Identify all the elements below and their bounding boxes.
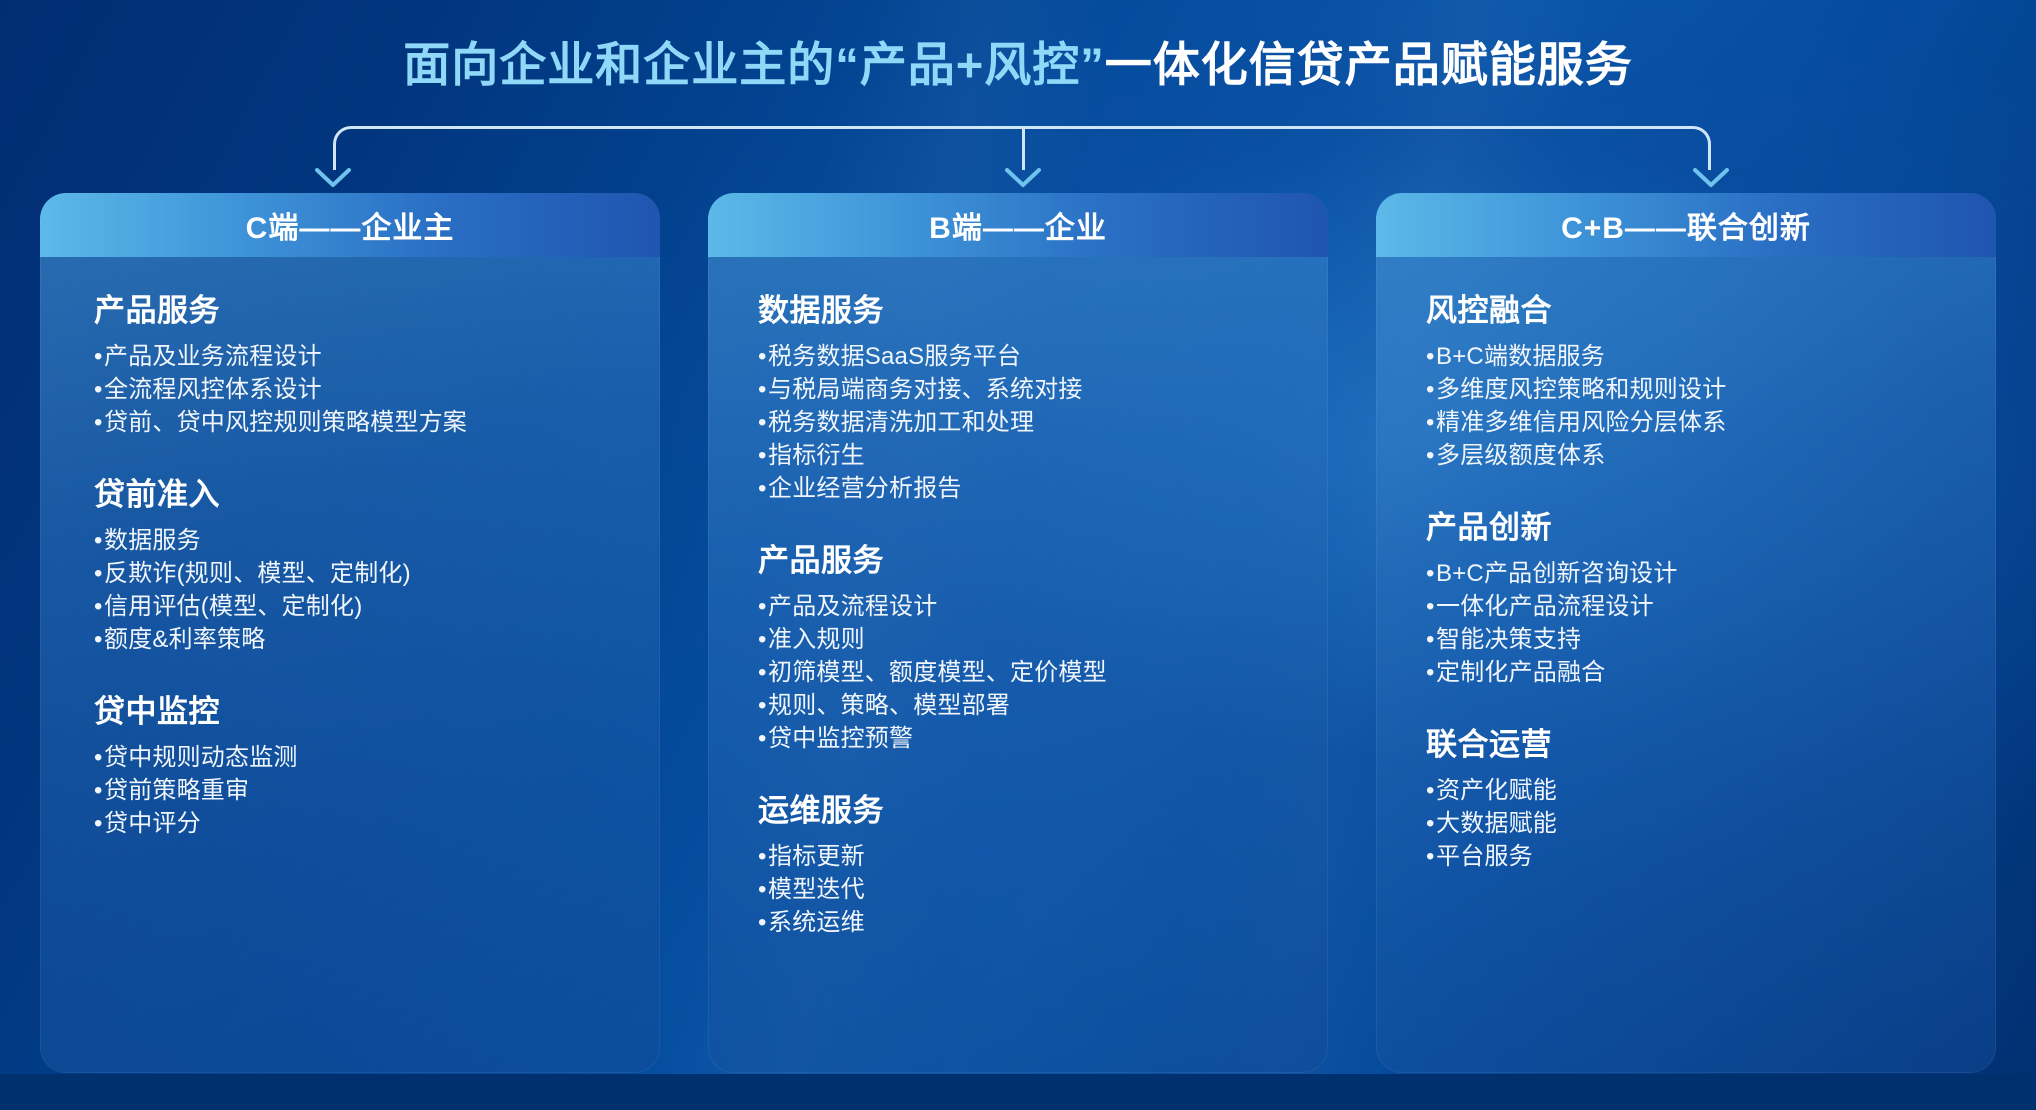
section-title: 产品创新 xyxy=(1426,502,1996,547)
bullet-dot-icon: • xyxy=(758,472,768,505)
list-item: •税务数据清洗加工和处理 xyxy=(758,406,1328,439)
bullet-dot-icon: • xyxy=(94,524,104,557)
list-item: •系统运维 xyxy=(758,906,1328,939)
bullet-dot-icon: • xyxy=(758,590,768,623)
list-item-label: 多维度风控策略和规则设计 xyxy=(1436,376,1726,403)
list-item: •信用评估(模型、定制化) xyxy=(94,590,660,623)
card-header-c-end: C端——企业主 xyxy=(40,193,660,257)
list-item: •初筛模型、额度模型、定价模型 xyxy=(758,656,1328,689)
bullet-dot-icon: • xyxy=(758,873,768,906)
card-b-end[interactable]: B端——企业 数据服务 •税务数据SaaS服务平台 •与税局端商务对接、系统对接… xyxy=(708,193,1328,1073)
list-item-label: 系统运维 xyxy=(768,909,865,936)
arrow-down-icon-middle xyxy=(1001,164,1045,190)
list-item: •智能决策支持 xyxy=(1426,623,1996,656)
list-item-label: 贷中评分 xyxy=(104,810,201,837)
bullet-dot-icon: • xyxy=(758,722,768,755)
list-item-label: 初筛模型、额度模型、定价模型 xyxy=(768,659,1107,686)
list-item: •指标衍生 xyxy=(758,439,1328,472)
section-title: 联合运营 xyxy=(1426,719,1996,764)
slide-canvas: 面向企业和企业主的“产品+风控”一体化信贷产品赋能服务 C端——企业主 产品服务… xyxy=(0,0,2036,1110)
list-item: •指标更新 xyxy=(758,840,1328,873)
card-header-b-end: B端——企业 xyxy=(708,193,1328,257)
list-item-label: 与税局端商务对接、系统对接 xyxy=(768,376,1083,403)
list-item-label: 规则、策略、模型部署 xyxy=(768,692,1010,719)
list-item-label: 税务数据SaaS服务平台 xyxy=(768,343,1021,370)
list-item-label: 指标更新 xyxy=(768,843,865,870)
bullet-dot-icon: • xyxy=(94,557,104,590)
list-item: •B+C产品创新咨询设计 xyxy=(1426,557,1996,590)
section-product-service: 产品服务 •产品及业务流程设计 •全流程风控体系设计 •贷前、贷中风控规则策略模… xyxy=(94,285,660,439)
list-item-label: 反欺诈(规则、模型、定制化) xyxy=(104,560,411,587)
list-item-label: 产品及流程设计 xyxy=(768,593,937,620)
card-body-c-plus-b: 风控融合 •B+C端数据服务 •多维度风控策略和规则设计 •精准多维信用风险分层… xyxy=(1376,257,1996,1073)
list-item-label: 全流程风控体系设计 xyxy=(104,376,322,403)
list-item: •定制化产品融合 xyxy=(1426,656,1996,689)
list-item: •产品及流程设计 xyxy=(758,590,1328,623)
bullet-dot-icon: • xyxy=(1426,439,1436,472)
list-item-label: 精准多维信用风险分层体系 xyxy=(1436,409,1726,436)
section-title: 产品服务 xyxy=(758,535,1328,580)
section-title: 数据服务 xyxy=(758,285,1328,330)
list-item: •多维度风控策略和规则设计 xyxy=(1426,373,1996,406)
section-pre-loan-access: 贷前准入 •数据服务 •反欺诈(规则、模型、定制化) •信用评估(模型、定制化)… xyxy=(94,469,660,656)
list-item-label: 贷中监控预警 xyxy=(768,725,913,752)
bullet-dot-icon: • xyxy=(94,623,104,656)
bullet-list: •资产化赋能 •大数据赋能 •平台服务 xyxy=(1426,774,1996,873)
bullet-dot-icon: • xyxy=(1426,373,1436,406)
bullet-list: •指标更新 •模型迭代 •系统运维 xyxy=(758,840,1328,939)
list-item-label: 指标衍生 xyxy=(768,442,865,469)
list-item-label: 企业经营分析报告 xyxy=(768,475,962,502)
section-product-innovation: 产品创新 •B+C产品创新咨询设计 •一体化产品流程设计 •智能决策支持 •定制… xyxy=(1426,502,1996,689)
list-item: •贷前、贷中风控规则策略模型方案 xyxy=(94,406,660,439)
bullet-dot-icon: • xyxy=(758,439,768,472)
list-item-label: 贷中规则动态监测 xyxy=(104,744,298,771)
bullet-dot-icon: • xyxy=(758,656,768,689)
section-title: 贷前准入 xyxy=(94,469,660,514)
section-title: 产品服务 xyxy=(94,285,660,330)
bullet-dot-icon: • xyxy=(758,406,768,439)
bullet-list: •产品及流程设计 •准入规则 •初筛模型、额度模型、定价模型 •规则、策略、模型… xyxy=(758,590,1328,755)
list-item-label: 数据服务 xyxy=(104,527,201,554)
bullet-dot-icon: • xyxy=(758,906,768,939)
bullet-dot-icon: • xyxy=(94,406,104,439)
section-title: 贷中监控 xyxy=(94,686,660,731)
list-item: •贷中规则动态监测 xyxy=(94,741,660,774)
section-data-service: 数据服务 •税务数据SaaS服务平台 •与税局端商务对接、系统对接 •税务数据清… xyxy=(758,285,1328,505)
list-item-label: 大数据赋能 xyxy=(1436,810,1557,837)
list-item: •全流程风控体系设计 xyxy=(94,373,660,406)
list-item: •模型迭代 xyxy=(758,873,1328,906)
list-item: •大数据赋能 xyxy=(1426,807,1996,840)
bullet-dot-icon: • xyxy=(94,807,104,840)
bullet-dot-icon: • xyxy=(1426,656,1436,689)
bullet-dot-icon: • xyxy=(1426,774,1436,807)
list-item-label: 额度&利率策略 xyxy=(104,626,265,653)
list-item-label: 定制化产品融合 xyxy=(1436,659,1605,686)
bullet-dot-icon: • xyxy=(1426,406,1436,439)
list-item-label: 贷前策略重审 xyxy=(104,777,249,804)
section-product-service: 产品服务 •产品及流程设计 •准入规则 •初筛模型、额度模型、定价模型 •规则、… xyxy=(758,535,1328,755)
bullet-dot-icon: • xyxy=(1426,557,1436,590)
list-item: •产品及业务流程设计 xyxy=(94,340,660,373)
bullet-dot-icon: • xyxy=(94,741,104,774)
arrow-down-icon-left xyxy=(311,164,355,190)
bullet-list: •产品及业务流程设计 •全流程风控体系设计 •贷前、贷中风控规则策略模型方案 xyxy=(94,340,660,439)
list-item-label: B+C端数据服务 xyxy=(1436,343,1605,370)
bullet-list: •B+C产品创新咨询设计 •一体化产品流程设计 •智能决策支持 •定制化产品融合 xyxy=(1426,557,1996,689)
page-title-part-2: 一体化信贷产品赋能服务 xyxy=(1105,38,1633,91)
list-item: •一体化产品流程设计 xyxy=(1426,590,1996,623)
list-item: •税务数据SaaS服务平台 xyxy=(758,340,1328,373)
bullet-dot-icon: • xyxy=(94,590,104,623)
bullet-dot-icon: • xyxy=(758,689,768,722)
list-item: •贷中评分 xyxy=(94,807,660,840)
section-joint-operation: 联合运营 •资产化赋能 •大数据赋能 •平台服务 xyxy=(1426,719,1996,873)
bullet-dot-icon: • xyxy=(758,373,768,406)
list-item: •资产化赋能 xyxy=(1426,774,1996,807)
card-c-end[interactable]: C端——企业主 产品服务 •产品及业务流程设计 •全流程风控体系设计 •贷前、贷… xyxy=(40,193,660,1073)
list-item-label: 一体化产品流程设计 xyxy=(1436,593,1654,620)
list-item: •贷前策略重审 xyxy=(94,774,660,807)
bullet-dot-icon: • xyxy=(1426,590,1436,623)
list-item-label: 多层级额度体系 xyxy=(1436,442,1605,469)
bullet-list: •贷中规则动态监测 •贷前策略重审 •贷中评分 xyxy=(94,741,660,840)
section-risk-control-fusion: 风控融合 •B+C端数据服务 •多维度风控策略和规则设计 •精准多维信用风险分层… xyxy=(1426,285,1996,472)
section-title: 运维服务 xyxy=(758,785,1328,830)
list-item: •贷中监控预警 xyxy=(758,722,1328,755)
list-item: •平台服务 xyxy=(1426,840,1996,873)
list-item-label: 准入规则 xyxy=(768,626,865,653)
card-group: C端——企业主 产品服务 •产品及业务流程设计 •全流程风控体系设计 •贷前、贷… xyxy=(40,193,1996,1073)
bullet-dot-icon: • xyxy=(94,340,104,373)
list-item: •企业经营分析报告 xyxy=(758,472,1328,505)
list-item: •与税局端商务对接、系统对接 xyxy=(758,373,1328,406)
page-title: 面向企业和企业主的“产品+风控”一体化信贷产品赋能服务 xyxy=(0,26,2036,95)
list-item: •规则、策略、模型部署 xyxy=(758,689,1328,722)
bullet-dot-icon: • xyxy=(1426,807,1436,840)
bullet-dot-icon: • xyxy=(758,623,768,656)
bullet-dot-icon: • xyxy=(1426,623,1436,656)
bullet-list: •数据服务 •反欺诈(规则、模型、定制化) •信用评估(模型、定制化) •额度&… xyxy=(94,524,660,656)
list-item: •多层级额度体系 xyxy=(1426,439,1996,472)
arrow-down-icon-right xyxy=(1689,164,1733,190)
bullet-list: •税务数据SaaS服务平台 •与税局端商务对接、系统对接 •税务数据清洗加工和处… xyxy=(758,340,1328,505)
list-item-label: 模型迭代 xyxy=(768,876,865,903)
bullet-list: •B+C端数据服务 •多维度风控策略和规则设计 •精准多维信用风险分层体系 •多… xyxy=(1426,340,1996,472)
list-item-label: 信用评估(模型、定制化) xyxy=(104,593,362,620)
section-title: 风控融合 xyxy=(1426,285,1996,330)
bullet-dot-icon: • xyxy=(1426,340,1436,373)
list-item-label: 平台服务 xyxy=(1436,843,1533,870)
card-body-b-end: 数据服务 •税务数据SaaS服务平台 •与税局端商务对接、系统对接 •税务数据清… xyxy=(708,257,1328,1073)
bullet-dot-icon: • xyxy=(758,840,768,873)
list-item: •反欺诈(规则、模型、定制化) xyxy=(94,557,660,590)
list-item-label: 产品及业务流程设计 xyxy=(104,343,322,370)
list-item: •准入规则 xyxy=(758,623,1328,656)
list-item: •额度&利率策略 xyxy=(94,623,660,656)
section-in-loan-monitoring: 贷中监控 •贷中规则动态监测 •贷前策略重审 •贷中评分 xyxy=(94,686,660,840)
list-item-label: 贷前、贷中风控规则策略模型方案 xyxy=(104,409,467,436)
list-item-label: 税务数据清洗加工和处理 xyxy=(768,409,1034,436)
section-operation-maintenance-service: 运维服务 •指标更新 •模型迭代 •系统运维 xyxy=(758,785,1328,939)
list-item-label: 智能决策支持 xyxy=(1436,626,1581,653)
card-c-plus-b[interactable]: C+B——联合创新 风控融合 •B+C端数据服务 •多维度风控策略和规则设计 •… xyxy=(1376,193,1996,1073)
bullet-dot-icon: • xyxy=(1426,840,1436,873)
card-body-c-end: 产品服务 •产品及业务流程设计 •全流程风控体系设计 •贷前、贷中风控规则策略模… xyxy=(40,257,660,1073)
page-title-part-1: 面向企业和企业主的“产品+风控” xyxy=(403,38,1104,91)
list-item: •B+C端数据服务 xyxy=(1426,340,1996,373)
bullet-dot-icon: • xyxy=(94,774,104,807)
list-item-label: B+C产品创新咨询设计 xyxy=(1436,560,1678,587)
card-header-c-plus-b: C+B——联合创新 xyxy=(1376,193,1996,257)
list-item-label: 资产化赋能 xyxy=(1436,777,1557,804)
list-item: •精准多维信用风险分层体系 xyxy=(1426,406,1996,439)
list-item: •数据服务 xyxy=(94,524,660,557)
bullet-dot-icon: • xyxy=(758,340,768,373)
bullet-dot-icon: • xyxy=(94,373,104,406)
